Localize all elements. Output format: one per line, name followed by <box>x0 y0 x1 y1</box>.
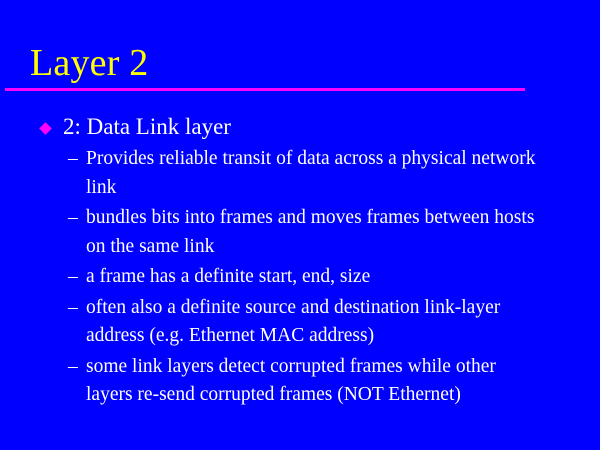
sub-bullet-label: bundles bits into frames and moves frame… <box>86 207 534 257</box>
sub-bullet-label: some link layers detect corrupted frames… <box>86 356 496 406</box>
bullet-level1-label: 2: Data Link layer <box>63 114 231 139</box>
sub-bullet-item: – Provides reliable transit of data acro… <box>0 145 600 202</box>
dash-bullet-icon: – <box>68 353 82 382</box>
bullet-level1: 2: Data Link layer <box>0 112 600 141</box>
page-title: Layer 2 <box>30 41 149 85</box>
sub-bullet-label: a frame has a definite start, end, size <box>86 266 370 287</box>
dash-bullet-icon: – <box>68 204 82 233</box>
sub-bullet-label: Provides reliable transit of data across… <box>86 148 535 198</box>
slide-body: 2: Data Link layer – Provides reliable t… <box>0 112 600 412</box>
sub-bullet-item: – bundles bits into frames and moves fra… <box>0 204 600 261</box>
sub-bullet-list: – Provides reliable transit of data acro… <box>0 145 600 410</box>
title-divider <box>5 88 525 91</box>
dash-bullet-icon: – <box>68 263 82 292</box>
sub-bullet-item: – some link layers detect corrupted fram… <box>0 353 600 410</box>
sub-bullet-item: – a frame has a definite start, end, siz… <box>0 263 600 292</box>
sub-bullet-label: often also a definite source and destina… <box>86 297 500 347</box>
dash-bullet-icon: – <box>68 145 82 174</box>
slide-canvas: Layer 2 2: Data Link layer – Provides re… <box>0 0 600 450</box>
sub-bullet-item: – often also a definite source and desti… <box>0 294 600 351</box>
diamond-bullet-icon <box>39 122 52 135</box>
dash-bullet-icon: – <box>68 294 82 323</box>
